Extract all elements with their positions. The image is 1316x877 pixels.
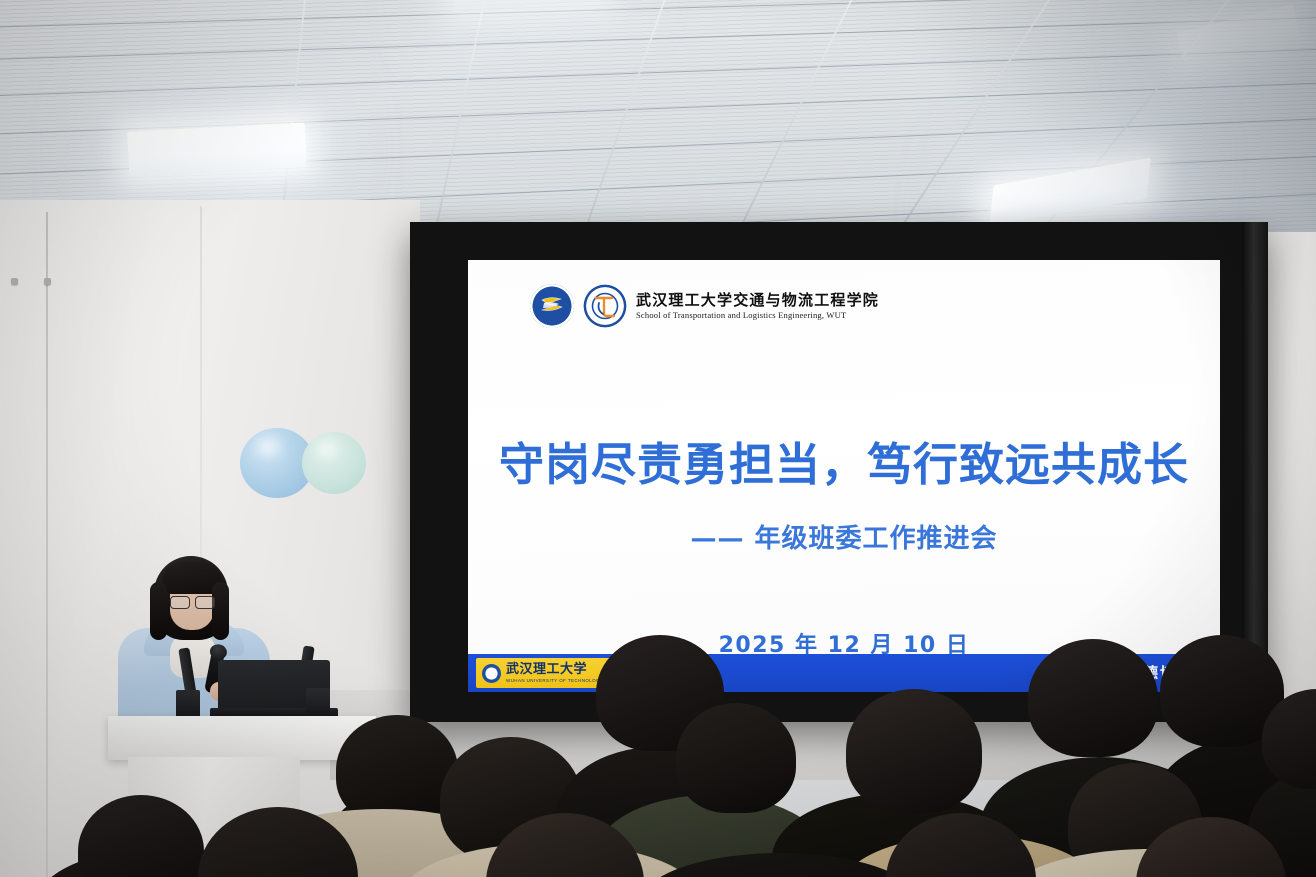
wut-seal-icon xyxy=(530,284,574,328)
badge-sublabel: WUHAN UNIVERSITY OF TECHNOLOGY xyxy=(506,678,603,683)
audience-shoulders xyxy=(400,843,700,877)
eyeglasses-icon xyxy=(170,596,215,607)
audience-head xyxy=(486,813,644,877)
audience-head xyxy=(886,813,1036,877)
tl-monogram-icon xyxy=(583,284,627,328)
wall-panel-seam xyxy=(46,212,48,877)
podium-base xyxy=(214,840,350,877)
presenter-hair-side xyxy=(150,582,167,640)
university-motto: 厚德博学 xyxy=(1126,662,1194,683)
audience-shoulders xyxy=(596,795,826,877)
balloon-decoration-right xyxy=(302,432,366,494)
presenter-hair-side xyxy=(212,582,229,640)
audience-shoulders xyxy=(840,835,1100,877)
organization-name-en: School of Transportation and Logistics E… xyxy=(636,311,879,321)
wall-fixture xyxy=(11,278,18,285)
slide-subtitle: —— 年级班委工作推进会 xyxy=(468,518,1220,555)
audience-shoulders xyxy=(640,853,920,877)
podium-top xyxy=(108,716,376,760)
audience-shoulders xyxy=(772,793,1022,877)
wall-panel-seam xyxy=(200,206,202,606)
speaker-right xyxy=(306,688,330,718)
lecture-hall-photo: 武汉理工大学交通与物流工程学院 School of Transportation… xyxy=(0,0,1316,877)
presentation-slide: 武汉理工大学交通与物流工程学院 School of Transportation… xyxy=(468,260,1220,692)
university-badge: 武汉理工大学 WUHAN UNIVERSITY OF TECHNOLOGY xyxy=(476,658,612,688)
projection-screen-frame: 武汉理工大学交通与物流工程学院 School of Transportation… xyxy=(410,222,1268,722)
audience-head xyxy=(1068,763,1202,877)
slide-footer-bar: 武汉理工大学 WUHAN UNIVERSITY OF TECHNOLOGY 厚德… xyxy=(468,654,1220,692)
badge-label: 武汉理工大学 xyxy=(506,663,603,676)
school-seal-icon xyxy=(583,284,627,328)
wall-fixture xyxy=(44,278,51,285)
ceiling-light-panel xyxy=(127,122,307,176)
wut-swoosh-icon xyxy=(539,295,565,317)
organization-name-cn: 武汉理工大学交通与物流工程学院 xyxy=(636,292,879,309)
slide-header: 武汉理工大学交通与物流工程学院 School of Transportation… xyxy=(530,284,879,328)
slide-header-text: 武汉理工大学交通与物流工程学院 School of Transportation… xyxy=(636,292,879,320)
badge-seal-icon xyxy=(482,664,501,683)
ceiling-shadow xyxy=(724,0,1316,258)
slide-title: 守岗尽责勇担当，笃行致远共成长 xyxy=(468,428,1220,493)
